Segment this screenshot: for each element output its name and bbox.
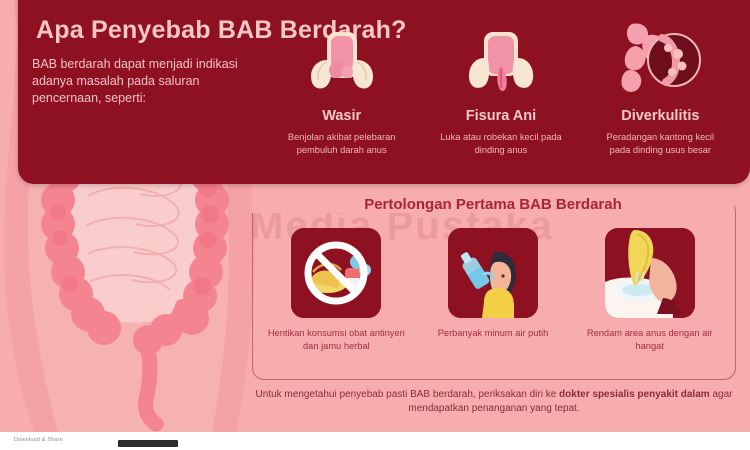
- diverticulitis-colon-icon: [581, 18, 740, 100]
- first-aid-desc: Rendam area anus dengan air hangat: [580, 327, 720, 352]
- footer-text: Download & Share: [14, 437, 63, 443]
- first-aid-desc: Perbanyak minum air putih: [423, 327, 563, 340]
- header-subtitle: BAB berdarah dapat menjadi indikasi adan…: [32, 56, 250, 107]
- warm-sitz-bath-icon: [605, 228, 695, 318]
- app-store-badge[interactable]: [118, 440, 178, 447]
- drinking-water-icon: [448, 228, 538, 318]
- footer-strip: [0, 432, 750, 450]
- first-aid-item-stop-medicine: Hentikan konsumsi obat antinyeri dan jam…: [258, 228, 415, 374]
- first-aid-heading: Pertolongan Pertama BAB Berdarah: [252, 196, 734, 213]
- cause-title: Wasir: [322, 108, 361, 124]
- first-aid-items: Hentikan konsumsi obat antinyeri dan jam…: [258, 228, 728, 374]
- cause-desc: Peradangan kantong kecil pada dinding us…: [595, 131, 725, 156]
- hemorrhoid-anatomy-icon: [262, 18, 421, 100]
- cause-item-fisura-ani: Fisura Ani Luka atau robekan kecil pada …: [421, 18, 580, 188]
- anal-fissure-anatomy-icon: [421, 18, 580, 100]
- bottom-note-bold: dokter spesialis penyakit dalam: [559, 389, 710, 400]
- no-medicine-herbs-icon: [291, 228, 381, 318]
- cause-item-diverkulitis: Diverkulitis Peradangan kantong kecil pa…: [581, 18, 740, 188]
- cause-item-wasir: Wasir Benjolan akibat pelebaran pembuluh…: [262, 18, 421, 188]
- cause-title: Fisura Ani: [466, 108, 536, 124]
- infographic-poster: Apa Penyebab BAB Berdarah? BAB berdarah …: [0, 0, 750, 450]
- first-aid-item-sitz-bath: Rendam area anus dengan air hangat: [571, 228, 728, 374]
- first-aid-heading-text: Pertolongan Pertama BAB Berdarah: [354, 196, 632, 213]
- first-aid-item-drink-water: Perbanyak minum air putih: [415, 228, 572, 374]
- bottom-note-before: Untuk mengetahui penyebab pasti BAB berd…: [256, 389, 560, 400]
- cause-desc: Luka atau robekan kecil pada dinding anu…: [436, 131, 566, 156]
- bottom-note: Untuk mengetahui penyebab pasti BAB berd…: [252, 388, 736, 416]
- first-aid-desc: Hentikan konsumsi obat antinyeri dan jam…: [266, 327, 406, 352]
- causes-row: Wasir Benjolan akibat pelebaran pembuluh…: [262, 18, 740, 188]
- cause-title: Diverkulitis: [621, 108, 699, 124]
- cause-desc: Benjolan akibat pelebaran pembuluh darah…: [277, 131, 407, 156]
